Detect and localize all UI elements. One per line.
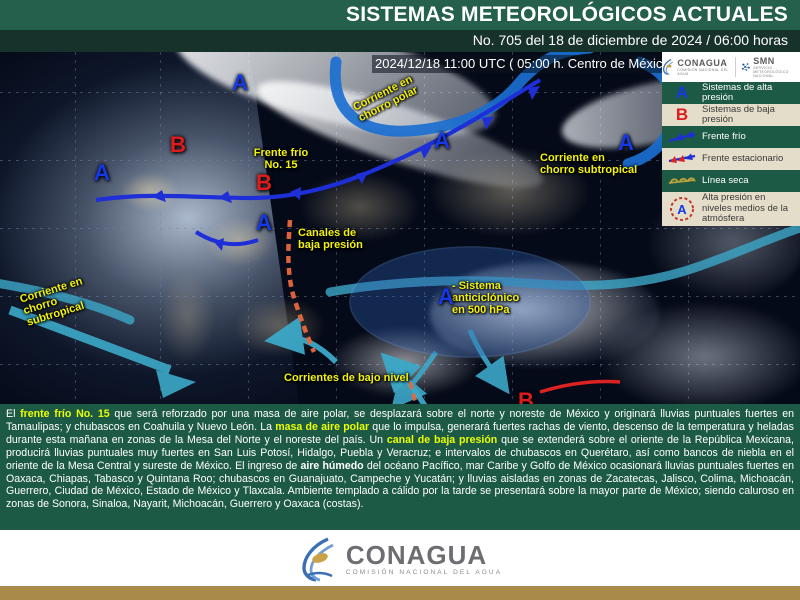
legend-item-stationary-front: Frente estacionario [662,148,800,170]
footer-conagua-logo: CONAGUA COMISIÓN NACIONAL DEL AGUA [0,536,800,582]
footer-logo-text: CONAGUA [346,542,502,568]
mid-level-high-icon: A [662,195,702,223]
cold-front-barb [482,116,494,130]
stationary-front-path [540,381,620,392]
footer: CONAGUA COMISIÓN NACIONAL DEL AGUA [0,530,800,600]
conagua-wave-icon [662,57,674,77]
legend-item-mid-level-high: A Alta presión en niveles medios de la a… [662,192,800,226]
letter-b-red-icon: B [662,105,702,125]
footer-logo-subtext: COMISIÓN NACIONAL DEL AGUA [346,569,502,576]
forecast-paragraph: El frente frío No. 15 que será reforzado… [6,408,794,510]
map-timestamp: 2024/12/18 11:00 UTC ( 05:00 h. Centro d… [372,55,681,73]
cold-front-barb [528,86,540,100]
legend-item-high-pressure: A Sistemas de alta presión [662,82,800,104]
legend-item-low-pressure: B Sistemas de baja presión [662,104,800,126]
cold-front-barb [152,190,166,202]
conagua-logo-subtext: COMISIÓN NACIONAL DEL AGUA [677,68,730,76]
low-pressure-channels-label: Canales de baja presión [298,227,368,251]
low-pressure-marker: B [518,388,534,404]
legend-label: Sistemas de baja presión [702,105,800,126]
high-pressure-marker: A [434,128,450,154]
dry-line-icon [662,174,702,188]
high-pressure-marker: A [438,284,454,310]
stationary-front-icon [662,152,702,166]
svg-text:A: A [677,202,687,217]
conagua-wave-icon [298,536,338,582]
high-pressure-marker: A [94,160,110,186]
cold-front-15-path [96,80,540,200]
legend-label: Frente estacionario [702,154,800,165]
low-pressure-marker: B [170,132,186,158]
low-pressure-marker: B [256,170,272,196]
low-level-currents-label: Corrientes de bajo nivel [284,372,409,384]
secondary-front-path [196,232,258,244]
legend-label: Sistemas de alta presión [702,83,800,104]
arrow-head [156,370,196,398]
legend-item-cold-front: Frente frío [662,126,800,148]
forecast-text: El frente frío No. 15 que será reforzado… [0,404,800,530]
footer-gold-bar [0,586,800,600]
logo-divider [735,57,736,77]
map-legend: A Sistemas de alta presión B Sistemas de… [662,82,800,226]
cold-front-barb [420,146,432,159]
legend-item-dry-line: Línea seca [662,170,800,192]
smn-logo-subtext: SERVICIO METEOROLÓGICO NACIONAL [753,66,800,78]
conagua-logo: CONAGUA COMISIÓN NACIONAL DEL AGUA [662,57,730,77]
smn-logo-text: SMN [753,57,800,66]
legend-label: Frente frío [702,132,800,143]
legend-label: Alta presión en niveles medios de la atm… [702,193,800,225]
cold-front-15-label: Frente frío No. 15 [250,147,312,171]
high-pressure-marker: A [618,130,634,156]
weather-bulletin-page: SISTEMAS METEOROLÓGICOS ACTUALES No. 705… [0,0,800,600]
cold-front-icon [662,130,702,144]
conagua-logo-text: CONAGUA [677,59,730,68]
smn-logo: SMN SERVICIO METEOROLÓGICO NACIONAL [741,57,800,78]
high-pressure-marker: A [256,210,272,236]
legend-label: Línea seca [702,176,800,187]
anticyclonic-system-label: - Sistema anticiclónico en 500 hPa [452,280,530,316]
bulletin-number: No. 705 del 18 de diciembre de 2024 / 06… [473,32,788,48]
letter-a-blue-icon: A [662,83,702,103]
high-pressure-marker: A [232,70,248,96]
page-title: SISTEMAS METEOROLÓGICOS ACTUALES [346,3,788,27]
logo-bar: CONAGUA COMISIÓN NACIONAL DEL AGUA SMN S… [662,52,800,82]
cold-front-barb [218,191,232,203]
smn-network-icon [741,59,751,75]
